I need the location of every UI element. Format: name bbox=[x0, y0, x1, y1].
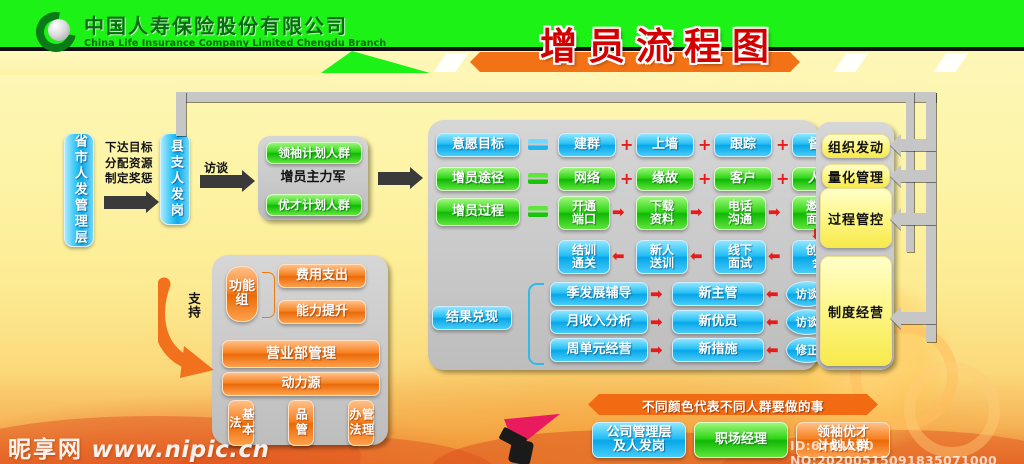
support-base-1: 品管 bbox=[288, 400, 314, 446]
box-leader-plan-group: 领袖计划人群 bbox=[266, 142, 362, 164]
matrix-row4-arrow-0: ⬅ bbox=[612, 249, 625, 264]
matrix-plus-0-0: + bbox=[620, 137, 633, 153]
result-outcome-1: 新优员 bbox=[672, 310, 764, 334]
matrix-item-2-0: 开通 端口 bbox=[558, 196, 610, 230]
image-id-watermark: ID:6764290 NO:20200515091835071000 bbox=[790, 438, 1024, 464]
arrow-county-to-force bbox=[200, 175, 244, 188]
directive-note: 下达目标 分配资源 制定奖惩 bbox=[99, 140, 159, 187]
support-curved-arrow-icon bbox=[158, 272, 218, 382]
matrix-item-0-2: 跟踪 bbox=[714, 133, 772, 157]
loop-top-line bbox=[176, 92, 936, 102]
matrix-row4-item-1: 新人 送训 bbox=[636, 240, 688, 274]
arrow-force-to-matrix bbox=[378, 172, 412, 185]
result-action-1: 月收入分析 bbox=[550, 310, 648, 334]
loop-arrow-0 bbox=[900, 139, 936, 151]
result-outcome-2: 新措施 bbox=[672, 338, 764, 362]
matrix-row4-arrow-2: ⬅ bbox=[768, 249, 781, 264]
dept-management-box: 营业部管理 bbox=[222, 340, 380, 368]
matrix-row4-item-0: 结训 通关 bbox=[558, 240, 610, 274]
loop-arrow-1 bbox=[900, 170, 936, 182]
box-main-force: 增员主力军 bbox=[266, 168, 360, 188]
right-box-3: 制度经营 bbox=[820, 256, 892, 366]
result-tag-arrow-2: ⬅ bbox=[766, 343, 779, 358]
power-source-box: 动力源 bbox=[222, 372, 380, 396]
result-action-2: 周单元经营 bbox=[550, 338, 648, 362]
matrix-plus-0-1: + bbox=[698, 137, 711, 153]
matrix-row-label-0: 意愿目标 bbox=[436, 133, 520, 157]
matrix-arrow-2-0: ➡ bbox=[612, 205, 625, 220]
legend-key-0: 公司管理层 及人发岗 bbox=[592, 422, 686, 458]
site-watermark: 昵享网 www.nipic.cn bbox=[8, 430, 270, 464]
box-county-hr-post: 县支人发岗 bbox=[160, 133, 190, 225]
matrix-arrow-2-2: ➡ bbox=[768, 205, 781, 220]
site-watermark-cn: 昵享网 bbox=[8, 437, 83, 463]
matrix-item-2-1: 下载 资料 bbox=[636, 196, 688, 230]
matrix-plus-1-0: + bbox=[620, 171, 633, 187]
function-group-box: 功能组 bbox=[226, 266, 258, 322]
result-action-0: 季发展辅导 bbox=[550, 282, 648, 306]
matrix-arrow-2-1: ➡ bbox=[690, 205, 703, 220]
support-branch-1: 能力提升 bbox=[278, 300, 366, 324]
matrix-equals-0 bbox=[528, 139, 548, 150]
megaphone-icon bbox=[500, 406, 578, 462]
matrix-plus-1-2: + bbox=[776, 171, 789, 187]
matrix-equals-2 bbox=[528, 206, 548, 217]
matrix-item-1-2: 客户 bbox=[714, 167, 772, 191]
support-branch-0: 费用支出 bbox=[278, 264, 366, 288]
matrix-item-0-0: 建群 bbox=[558, 133, 616, 157]
loop-arrow-2 bbox=[900, 213, 936, 225]
matrix-item-1-1: 缘故 bbox=[636, 167, 694, 191]
results-label: 结果兑现 bbox=[432, 306, 512, 330]
matrix-equals-1 bbox=[528, 173, 548, 184]
results-brace bbox=[528, 283, 544, 365]
legend-key-1: 职场经理 bbox=[694, 422, 788, 458]
box-province-hr-layer: 省市人发管理层 bbox=[64, 133, 94, 247]
result-arrow-1: ➡ bbox=[650, 315, 663, 330]
result-tag-arrow-1: ⬅ bbox=[766, 315, 779, 330]
poster-canvas: 中国人寿保险股份有限公司 China Life Insurance Compan… bbox=[0, 0, 1024, 464]
result-tag-arrow-0: ⬅ bbox=[766, 287, 779, 302]
matrix-row4-item-2: 线下 面试 bbox=[714, 240, 766, 274]
company-name-en: China Life Insurance Company Limited Che… bbox=[84, 38, 386, 49]
company-logo: 中国人寿保险股份有限公司 China Life Insurance Compan… bbox=[36, 12, 386, 52]
matrix-row-label-1: 增员途径 bbox=[436, 167, 520, 191]
label-interview: 访谈 bbox=[204, 159, 228, 176]
right-box-0: 组织发动 bbox=[822, 134, 890, 158]
loop-left-line bbox=[176, 92, 186, 136]
function-group-brace bbox=[262, 272, 275, 318]
legend-banner-text: 不同颜色代表不同人群要做的事 bbox=[588, 396, 878, 415]
matrix-row-label-2: 增员过程 bbox=[436, 198, 520, 226]
result-arrow-0: ➡ bbox=[650, 287, 663, 302]
matrix-item-0-1: 上墙 bbox=[636, 133, 694, 157]
matrix-plus-0-2: + bbox=[776, 137, 789, 153]
right-box-2: 过程管控 bbox=[820, 188, 892, 248]
arrow-province-to-county bbox=[104, 196, 148, 209]
matrix-item-2-2: 电话 沟通 bbox=[714, 196, 766, 230]
loop-arrow-3 bbox=[900, 312, 936, 324]
matrix-item-1-0: 网络 bbox=[558, 167, 616, 191]
support-base-2: 管理办法 bbox=[348, 400, 374, 446]
page-title: 增员流程图 bbox=[480, 16, 840, 70]
box-elite-plan-group: 优才计划人群 bbox=[266, 194, 362, 216]
matrix-row4-arrow-1: ⬅ bbox=[690, 249, 703, 264]
result-outcome-0: 新主管 bbox=[672, 282, 764, 306]
company-name-cn: 中国人寿保险股份有限公司 bbox=[84, 16, 386, 37]
matrix-plus-1-1: + bbox=[698, 171, 711, 187]
right-box-1: 量化管理 bbox=[822, 164, 890, 188]
result-arrow-2: ➡ bbox=[650, 343, 663, 358]
china-life-emblem-icon bbox=[36, 12, 76, 52]
site-watermark-url: www.nipic.cn bbox=[92, 437, 270, 463]
